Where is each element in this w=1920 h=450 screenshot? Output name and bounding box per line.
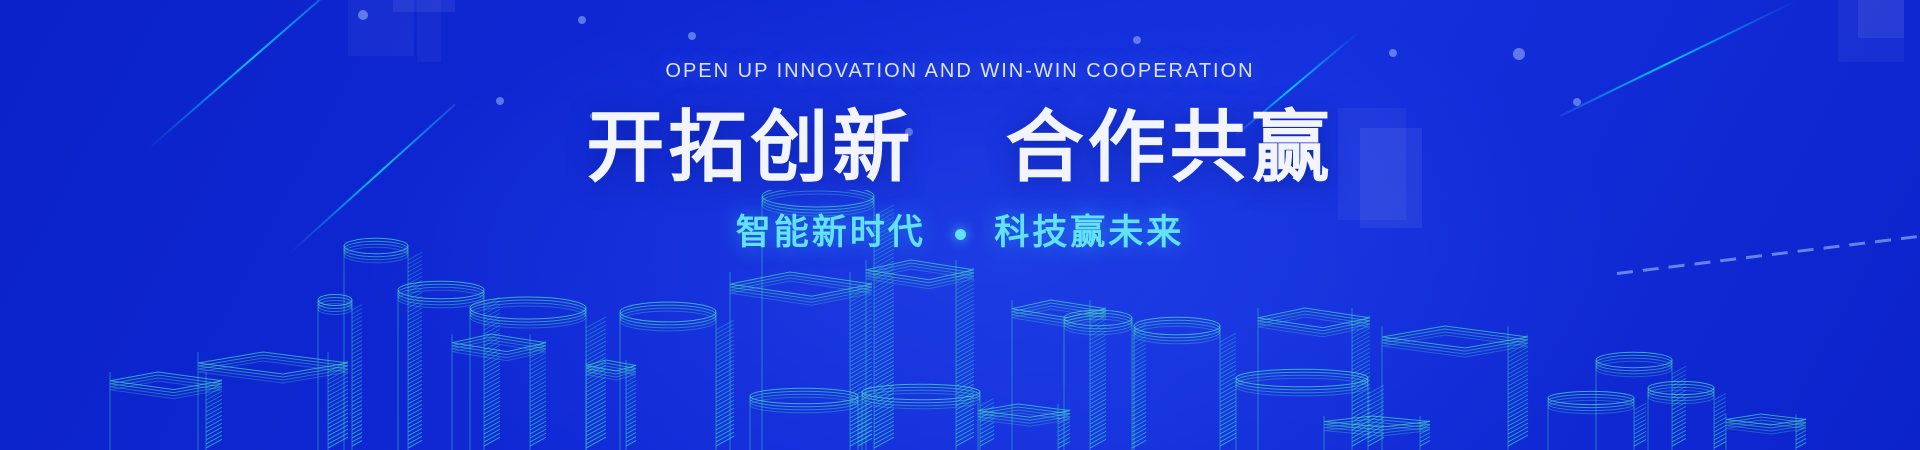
banner-text-block: OPEN UP INNOVATION AND WIN-WIN COOPERATI… — [0, 0, 1920, 253]
headline-part-right: 合作共赢 — [1006, 103, 1334, 191]
banner-headline: 开拓创新 合作共赢 — [0, 105, 1920, 189]
headline-part-left: 开拓创新 — [586, 103, 914, 191]
bld-2 — [198, 352, 348, 450]
bld-21 — [1382, 326, 1528, 450]
bld-10 — [730, 272, 872, 450]
bld-13 — [750, 388, 872, 450]
subtitle-part-left: 智能新时代 — [736, 213, 926, 252]
bld-14 — [862, 384, 994, 450]
subtitle-part-right: 科技赢未来 — [994, 213, 1184, 252]
bld-26 — [1726, 414, 1806, 450]
hero-banner: OPEN UP INNOVATION AND WIN-WIN COOPERATI… — [0, 0, 1920, 450]
bld-9 — [620, 302, 734, 450]
bullet-separator-icon — [955, 229, 966, 240]
banner-eyebrow: OPEN UP INNOVATION AND WIN-WIN COOPERATI… — [0, 60, 1920, 83]
banner-subtitle: 智能新时代 科技赢未来 — [0, 213, 1920, 253]
bld-25 — [1648, 381, 1726, 450]
bld-18 — [1134, 317, 1236, 450]
